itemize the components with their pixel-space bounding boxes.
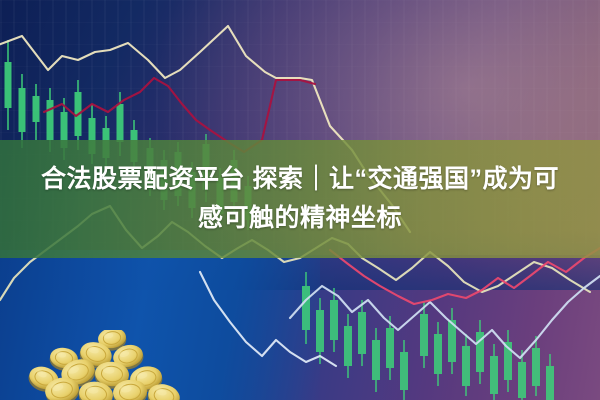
candlestick-group	[302, 272, 554, 400]
headline-container: 合法股票配资平台 探索｜让“交通强国”成为可 感可触的精神坐标	[0, 140, 600, 258]
banner-image: 合法股票配资平台 探索｜让“交通强国”成为可 感可触的精神坐标	[0, 0, 600, 400]
headline-line-2: 感可触的精神坐标	[198, 201, 402, 237]
gold-coin-pile	[0, 330, 230, 400]
headline-line-1: 合法股票配资平台 探索｜让“交通强国”成为可	[41, 162, 559, 198]
